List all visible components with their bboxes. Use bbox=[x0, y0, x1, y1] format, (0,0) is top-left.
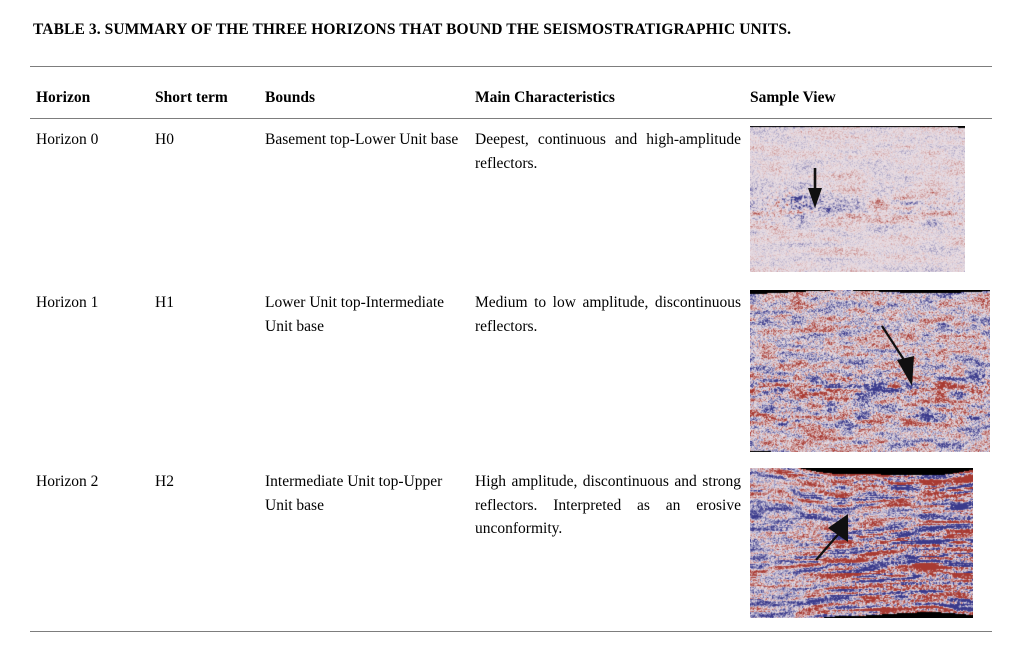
cell-sample-view bbox=[750, 126, 965, 272]
cell-short-term: H1 bbox=[155, 291, 260, 315]
table-header-rule bbox=[30, 118, 992, 119]
seismic-section-h2 bbox=[750, 468, 973, 618]
page-title: TABLE 3. SUMMARY OF THE THREE HORIZONS T… bbox=[33, 20, 993, 40]
cell-main-characteristics: Deepest, continuous and high-amplitude r… bbox=[475, 128, 741, 175]
cell-sample-view bbox=[750, 290, 990, 452]
cell-short-term: H0 bbox=[155, 128, 260, 152]
cell-bounds: Intermediate Unit top-Upper Unit base bbox=[265, 470, 465, 517]
cell-main-characteristics: Medium to low amplitude, discontinuous r… bbox=[475, 291, 741, 338]
column-header-sample-view: Sample View bbox=[750, 86, 995, 110]
column-header-main-characteristics: Main Characteristics bbox=[475, 86, 741, 110]
cell-bounds: Lower Unit top-Intermediate Unit base bbox=[265, 291, 465, 338]
table-page: TABLE 3. SUMMARY OF THE THREE HORIZONS T… bbox=[0, 0, 1035, 662]
column-header-bounds: Bounds bbox=[265, 86, 465, 110]
table-top-rule bbox=[30, 66, 992, 67]
column-header-short-term: Short term bbox=[155, 86, 260, 110]
cell-horizon: Horizon 1 bbox=[36, 291, 151, 315]
cell-sample-view bbox=[750, 468, 973, 618]
column-header-horizon: Horizon bbox=[36, 86, 151, 110]
seismic-section-h1 bbox=[750, 290, 990, 452]
cell-short-term: H2 bbox=[155, 470, 260, 494]
cell-main-characteristics: High amplitude, discontinuous and strong… bbox=[475, 470, 741, 541]
table-bottom-rule bbox=[30, 631, 992, 632]
cell-horizon: Horizon 0 bbox=[36, 128, 151, 152]
cell-horizon: Horizon 2 bbox=[36, 470, 151, 494]
cell-bounds: Basement top-Lower Unit base bbox=[265, 128, 465, 152]
seismic-section-h0 bbox=[750, 126, 965, 272]
